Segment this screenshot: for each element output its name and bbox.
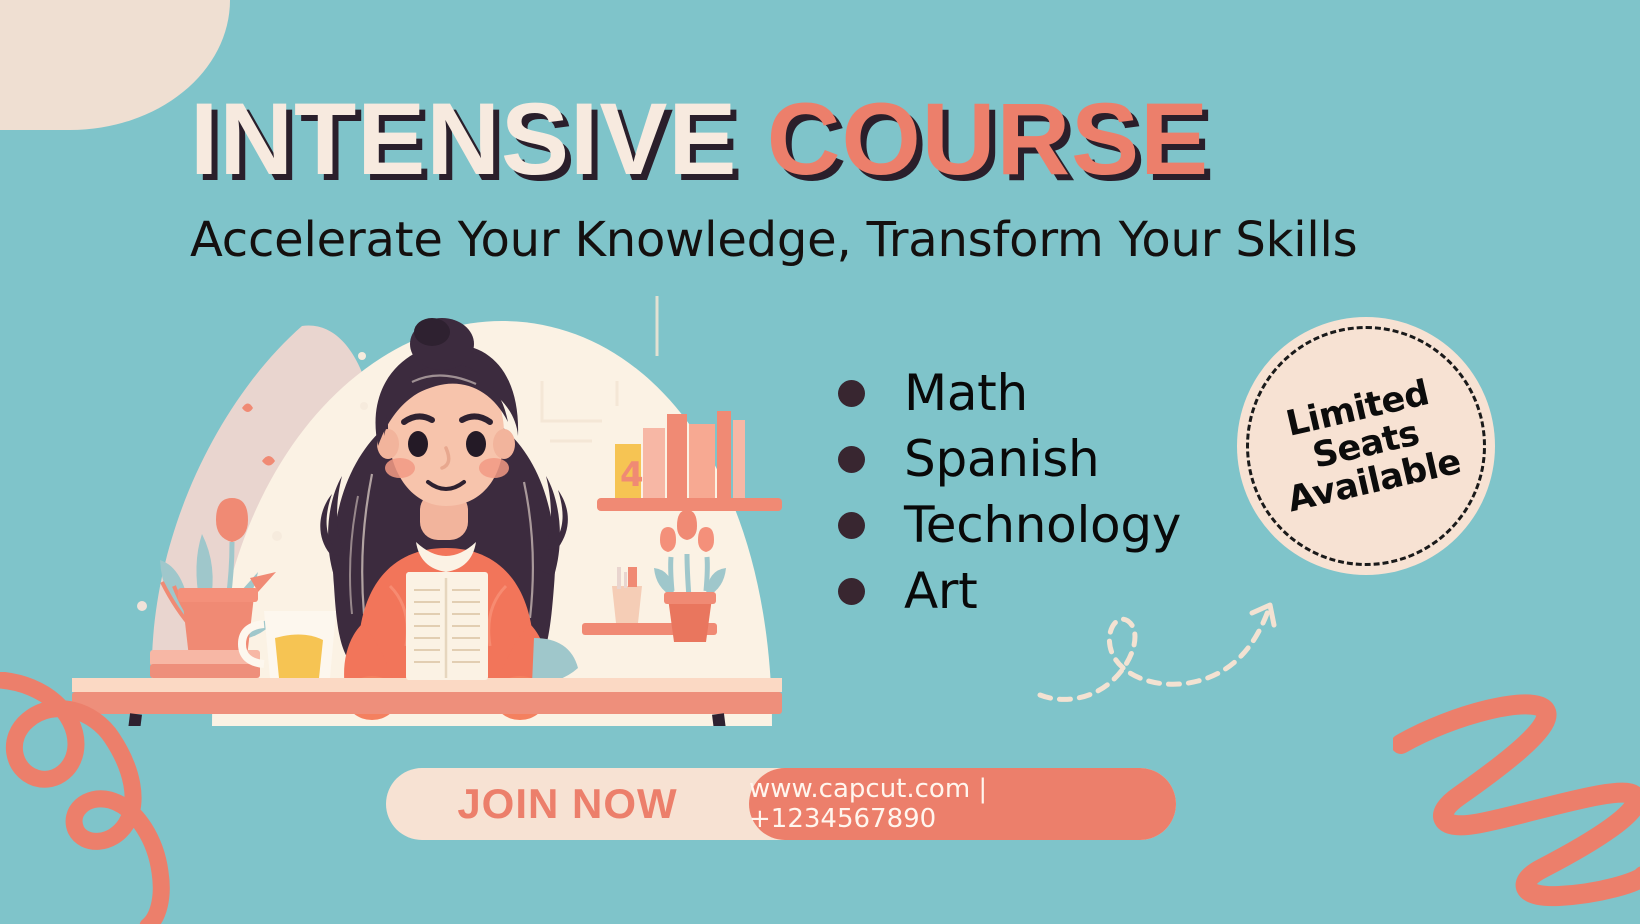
loop-squiggle-decoration-left [0,672,240,924]
page-title: INTENSIVE COURSE [190,88,1209,190]
list-item: Spanish [838,426,1181,492]
course-label: Art [904,562,977,620]
course-label: Spanish [904,430,1099,488]
headline-word-one: INTENSIVE [190,82,737,196]
bullet-icon [838,446,865,473]
join-now-button[interactable]: JOIN NOW [386,780,749,828]
status-badge: Limited Seats Available [1237,317,1495,575]
zigzag-squiggle-decoration-right [1393,686,1640,924]
student-illustration: 4 [72,286,812,731]
course-label: Technology [904,496,1181,554]
svg-text:4: 4 [620,455,644,495]
page-subtitle: Accelerate Your Knowledge, Transform You… [190,212,1357,268]
badge-text: Limited Seats Available [1268,372,1465,520]
contact-info[interactable]: www.capcut.com | +1234567890 [749,768,1176,840]
bullet-icon [838,380,865,407]
poster-canvas: INTENSIVE COURSE Accelerate Your Knowled… [0,0,1640,924]
bullet-icon [838,578,865,605]
dashed-arrow-decoration [1030,575,1300,710]
headline-word-two: COURSE [767,82,1209,196]
bullet-icon [838,512,865,539]
cta-bar[interactable]: JOIN NOW www.capcut.com | +1234567890 [386,768,1176,840]
list-item: Math [838,360,1181,426]
course-label: Math [904,364,1028,422]
list-item: Technology [838,492,1181,558]
